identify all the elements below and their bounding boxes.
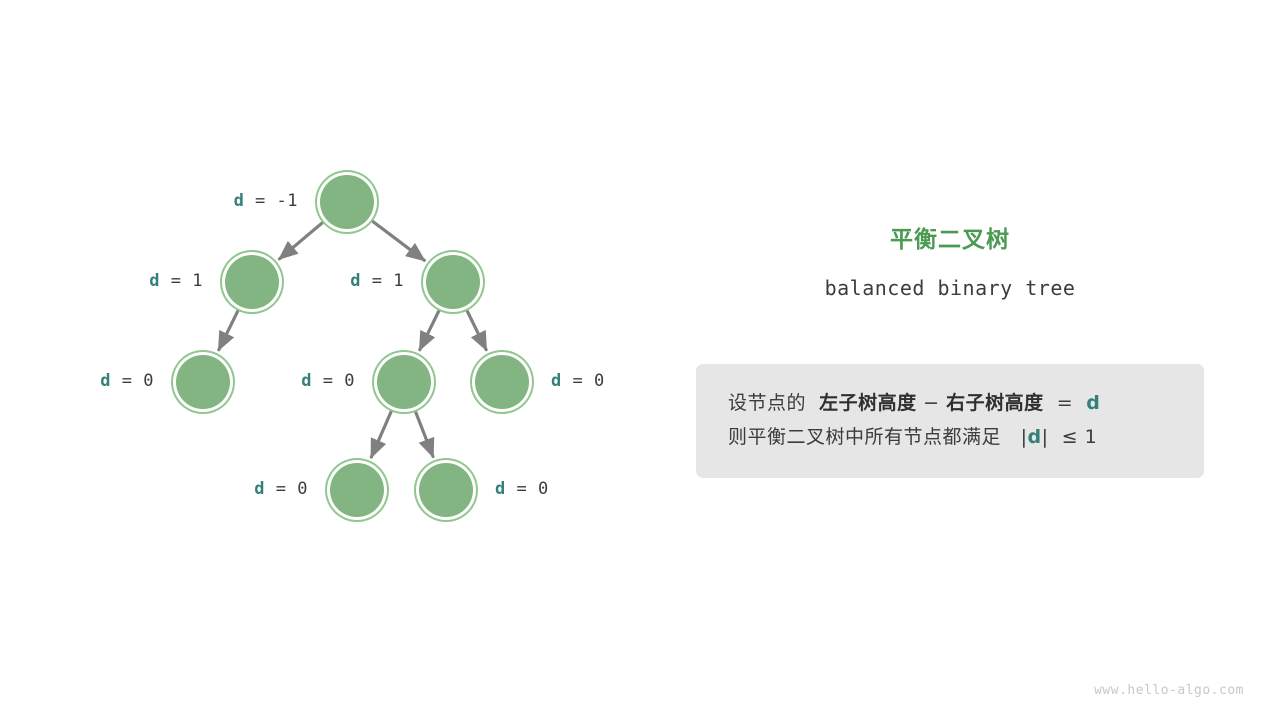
definition-bound-value: 1 [1085,426,1098,448]
tree-edge [415,409,433,456]
definition-d-symbol: d [1086,392,1100,414]
abs-bar-open: | [1021,426,1028,448]
illustration-canvas: d = -1d = 1d = 1d = 0d = 0d = 0d = 0d = … [0,0,1280,720]
node-label-d-symbol: d [350,271,361,291]
node-label-value: = 1 [361,271,404,291]
definition-left-subtree-height: 左子树高度 [819,392,917,414]
tree-edge [466,308,486,350]
node-balance-factor-label: d = 0 [0,371,355,391]
definition-d-symbol-abs: d [1028,426,1042,448]
tree-edge [280,221,325,259]
node-label-value: = 0 [562,371,605,391]
info-panel: 平衡二叉树 balanced binary tree [696,224,1204,300]
node-label-d-symbol: d [254,479,265,499]
tree-edge [219,308,239,350]
node-balance-factor-label: d = -1 [0,191,298,211]
tree-node [426,255,480,309]
tree-node [419,463,473,517]
node-label-d-symbol: d [234,191,245,211]
definition-line-2: 则平衡二叉树中所有节点都满足 |d| ≤ 1 [728,420,1172,454]
panel-title: 平衡二叉树 [696,224,1204,256]
less-equal-sign: ≤ [1062,426,1078,448]
node-label-d-symbol: d [301,371,312,391]
binary-tree-diagram: d = -1d = 1d = 1d = 0d = 0d = 0d = 0d = … [0,0,660,720]
tree-edge [370,219,424,260]
node-label-d-symbol: d [551,371,562,391]
node-label-value: = 0 [265,479,308,499]
tree-node [377,355,431,409]
tree-node [320,175,374,229]
definition-lead-1: 设节点的 [728,392,806,414]
panel-subtitle: balanced binary tree [696,276,1204,300]
tree-edges-layer [0,0,660,720]
definition-box: 设节点的 左子树高度 − 右子树高度 = d 则平衡二叉树中所有节点都满足 |d… [696,364,1204,478]
tree-node [330,463,384,517]
node-balance-factor-label: d = 0 [0,479,308,499]
site-watermark: www.hello-algo.com [1094,683,1244,698]
definition-equals-sign: = [1057,392,1073,414]
node-balance-factor-label: d = 1 [0,271,404,291]
tree-edge [371,409,392,457]
abs-bar-close: | [1042,426,1049,448]
tree-edge [420,308,440,350]
definition-line-1: 设节点的 左子树高度 − 右子树高度 = d [728,386,1172,420]
node-balance-factor-label: d = 0 [551,371,605,391]
node-label-value: = 0 [506,479,549,499]
definition-minus-sign: − [923,392,939,414]
definition-right-subtree-height: 右子树高度 [946,392,1044,414]
node-label-d-symbol: d [495,479,506,499]
tree-node [475,355,529,409]
definition-lead-2: 则平衡二叉树中所有节点都满足 [728,426,1001,448]
node-label-value: = -1 [244,191,298,211]
node-label-value: = 0 [312,371,355,391]
node-balance-factor-label: d = 0 [495,479,549,499]
